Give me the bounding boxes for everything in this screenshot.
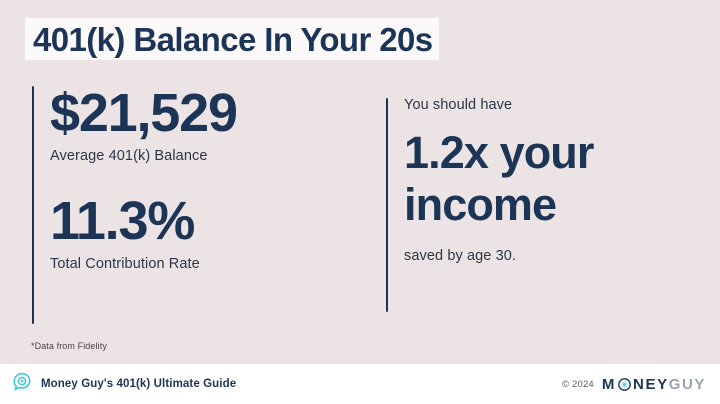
money-guy-circle-icon [12,372,32,397]
left-column-body: $21,529 Average 401(k) Balance 11.3% Tot… [34,86,362,324]
stat-contribution-rate: 11.3% Total Contribution Rate [50,194,362,272]
guidance-headline-line-1: 1.2x your [404,127,706,179]
stat-average-balance: $21,529 Average 401(k) Balance [50,86,362,164]
page-title-highlight: 401(k) Balance In Your 20s [25,18,439,60]
guidance-tail: saved by age 30. [404,248,706,264]
footer-bar: Money Guy's 401(k) Ultimate Guide © 2024… [0,364,720,404]
brand-text-guy: GUY [669,377,706,392]
brand-text-ney: NEY [633,377,669,392]
stat-spacer [50,164,362,194]
footer-guide-title: Money Guy's 401(k) Ultimate Guide [41,378,236,390]
left-stats-column: $21,529 Average 401(k) Balance 11.3% Tot… [32,86,362,324]
moneyguy-logo[interactable]: M NEY GUY [602,377,706,392]
stat-average-balance-value: $21,529 [50,86,362,141]
copyright-notice: © 2024 [562,379,594,390]
data-source-footnote: *Data from Fidelity [31,341,107,351]
guidance-lede: You should have [404,98,706,113]
stat-contribution-rate-label: Total Contribution Rate [50,256,362,272]
money-guy-o-icon [617,377,632,392]
footer-brand-area: © 2024 M NEY GUY [562,377,706,392]
page-title: 401(k) Balance In Your 20s [33,23,433,56]
stat-contribution-rate-value: 11.3% [50,194,362,249]
footer-guide-link[interactable]: Money Guy's 401(k) Ultimate Guide [12,372,236,397]
right-column-body: You should have 1.2x your income saved b… [388,98,706,312]
guidance-headline: 1.2x your income [404,127,706,231]
brand-text-m: M [602,377,616,392]
guidance-headline-line-2: income [404,179,706,231]
stat-average-balance-label: Average 401(k) Balance [50,148,362,164]
right-guidance-column: You should have 1.2x your income saved b… [386,98,706,312]
infographic-canvas: 401(k) Balance In Your 20s $21,529 Avera… [0,0,720,404]
